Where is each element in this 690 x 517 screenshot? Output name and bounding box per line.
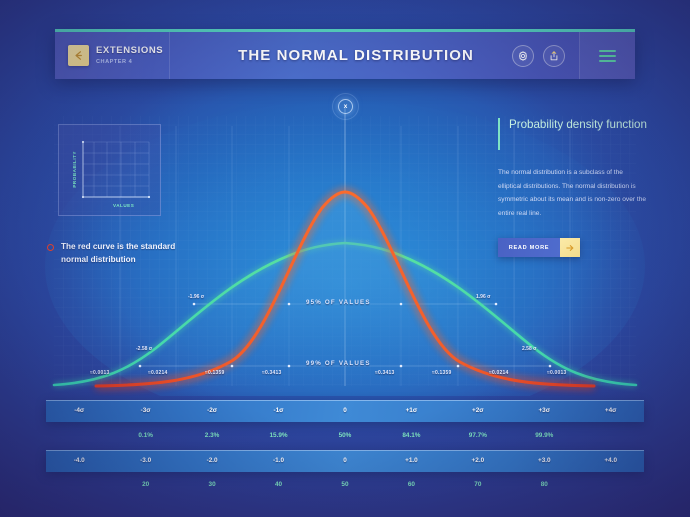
- area-label-2: ≈0.1359: [205, 370, 224, 376]
- band-label-99: 99% OF VALUES: [306, 360, 371, 367]
- legend-label: The red curve is the standard normal dis…: [61, 241, 197, 266]
- cell-zscore-5: +1.0: [378, 450, 444, 472]
- cell-sigma-8: +4σ: [578, 400, 644, 422]
- cell-cumulative-3: 15.9%: [245, 428, 311, 444]
- cell-cumulative-7: 99.9%: [511, 428, 577, 444]
- cell-tscore-4: 50: [312, 477, 378, 493]
- cell-sigma-1: -3σ: [112, 400, 178, 422]
- panel-accent-bar: [498, 118, 500, 150]
- sigma-marker-pos196: 1.96 σ: [476, 294, 491, 300]
- table-row-tscore: 20 30 40 50 60 70 80: [46, 477, 644, 493]
- cell-sigma-4: 0: [312, 400, 378, 422]
- cell-cumulative-4: 50%: [312, 428, 378, 444]
- read-more-row[interactable]: READ MORE: [498, 238, 580, 257]
- header-actions: [512, 32, 579, 79]
- cell-sigma-6: +2σ: [445, 400, 511, 422]
- panel-body-text: The normal distribution is a subclass of…: [498, 166, 648, 220]
- cell-zscore-4: 0: [312, 450, 378, 472]
- app-canvas: 95% OF VALUES 99% OF VALUES -1.96 σ 1.96…: [0, 0, 690, 517]
- cell-zscore-1: -3.0: [112, 450, 178, 472]
- sigma-marker-neg196: -1.96 σ: [188, 294, 204, 300]
- cell-zscore-0: -4.0: [46, 450, 112, 472]
- table-row-zscore: -4.0 -3.0 -2.0 -1.0 0 +1.0 +2.0 +3.0 +4.…: [46, 450, 644, 472]
- mini-chart-card[interactable]: PROBABILITY VALUES: [58, 124, 161, 216]
- chapter-label: CHAPTER 4: [96, 59, 163, 65]
- cell-cumulative-5: 84.1%: [378, 428, 444, 444]
- cell-cumulative-1: 0.1%: [112, 428, 178, 444]
- table-row-cumulative: 0.1% 2.3% 15.9% 50% 84.1% 97.7% 99.9%: [46, 428, 644, 444]
- cell-tscore-7: 80: [511, 477, 577, 493]
- read-more-button[interactable]: READ MORE: [498, 238, 560, 257]
- arrow-left-icon[interactable]: [68, 45, 89, 66]
- cell-zscore-6: +2.0: [445, 450, 511, 472]
- cell-cumulative-2: 2.3%: [179, 428, 245, 444]
- hamburger-menu-icon[interactable]: [579, 32, 635, 79]
- cell-cumulative-8: [578, 428, 644, 444]
- legend-dot-icon: [47, 244, 54, 251]
- cell-zscore-2: -2.0: [179, 450, 245, 472]
- extensions-label: EXTENSIONS: [96, 46, 163, 56]
- header-breadcrumb[interactable]: EXTENSIONS CHAPTER 4: [55, 32, 170, 79]
- cell-sigma-5: +1σ: [378, 400, 444, 422]
- peak-marker-x[interactable]: x: [338, 99, 353, 114]
- band-label-95: 95% OF VALUES: [306, 299, 371, 306]
- cell-cumulative-6: 97.7%: [445, 428, 511, 444]
- cell-tscore-1: 20: [112, 477, 178, 493]
- mini-chart-x-axis-label: VALUES: [113, 203, 134, 208]
- cell-tscore-8: [578, 477, 644, 493]
- app-header: EXTENSIONS CHAPTER 4 THE NORMAL DISTRIBU…: [55, 29, 635, 79]
- cell-cumulative-0: [46, 428, 112, 444]
- cell-tscore-0: [46, 477, 112, 493]
- legend-red-curve-note: The red curve is the standard normal dis…: [47, 241, 197, 266]
- cell-sigma-3: -1σ: [245, 400, 311, 422]
- area-label-1: ≈0.0214: [148, 370, 167, 376]
- cell-sigma-2: -2σ: [179, 400, 245, 422]
- info-panel: Probability density function The normal …: [498, 117, 648, 257]
- area-label-7: ≈0.0013: [547, 370, 566, 376]
- area-label-0: ≈0.0013: [90, 370, 109, 376]
- area-label-3: ≈0.3413: [262, 370, 281, 376]
- cell-zscore-8: +4.0: [578, 450, 644, 472]
- cell-zscore-3: -1.0: [245, 450, 311, 472]
- gear-icon[interactable]: [512, 45, 534, 67]
- panel-heading: Probability density function: [509, 117, 647, 133]
- cell-tscore-2: 30: [179, 477, 245, 493]
- area-label-5: ≈0.1359: [432, 370, 451, 376]
- mini-chart-y-axis-label: PROBABILITY: [72, 151, 77, 188]
- cell-sigma-7: +3σ: [511, 400, 577, 422]
- sigma-marker-pos258: 2.58 σ: [522, 346, 537, 352]
- cell-zscore-7: +3.0: [511, 450, 577, 472]
- sigma-marker-neg258: -2.58 σ: [136, 346, 152, 352]
- table-row-sigma: -4σ -3σ -2σ -1σ 0 +1σ +2σ +3σ +4σ: [46, 400, 644, 422]
- cell-tscore-6: 70: [445, 477, 511, 493]
- upload-share-icon[interactable]: [543, 45, 565, 67]
- cell-sigma-0: -4σ: [46, 400, 112, 422]
- cell-tscore-5: 60: [378, 477, 444, 493]
- area-label-6: ≈0.0214: [489, 370, 508, 376]
- page-title: THE NORMAL DISTRIBUTION: [238, 47, 474, 64]
- arrow-right-icon[interactable]: [560, 238, 580, 257]
- cell-tscore-3: 40: [245, 477, 311, 493]
- header-title-area: THE NORMAL DISTRIBUTION: [170, 32, 512, 79]
- area-label-4: ≈0.3413: [375, 370, 394, 376]
